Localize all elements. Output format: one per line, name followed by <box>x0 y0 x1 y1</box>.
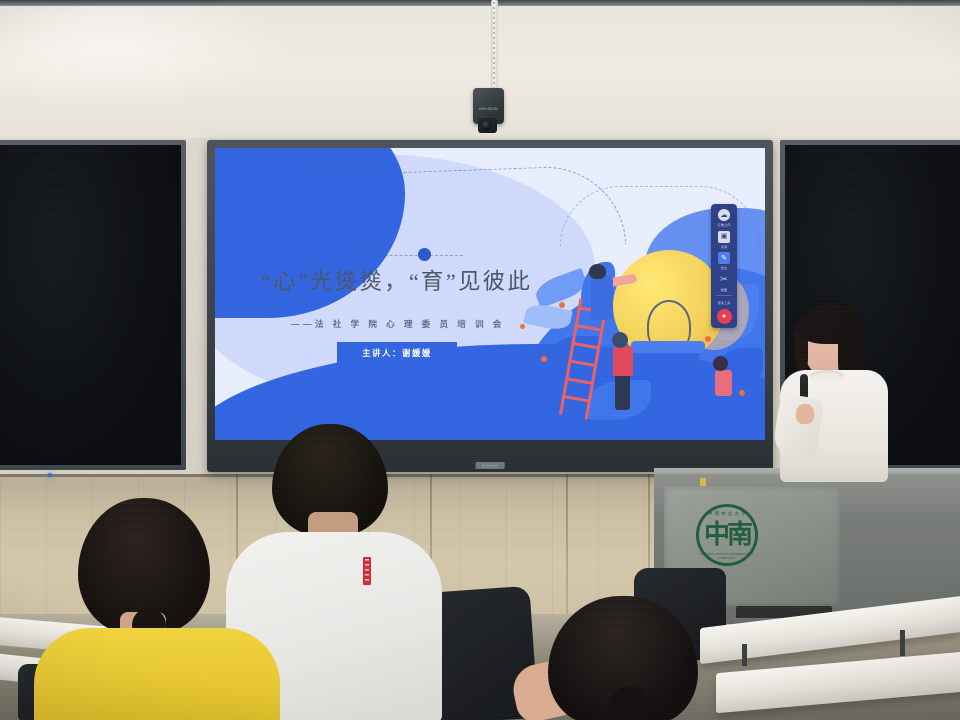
university-emblem: 中 南 林 业 大 学 中南 CENTRAL SOUTH UNIVERSITY … <box>696 504 758 566</box>
student-right-ponytail <box>610 686 650 720</box>
speaker-badge: 主讲人：谢媛媛 <box>337 342 457 364</box>
emblem-monogram: 中南 <box>704 522 750 548</box>
figure-head <box>612 332 628 348</box>
classroom-scene: HIKVISION <box>0 0 960 720</box>
toolbar-item-label: 资源 <box>721 244 727 249</box>
left-display[interactable] <box>0 140 186 470</box>
toolbar-item-annotate[interactable]: ✎ 批注 <box>718 252 730 270</box>
presenter-hand <box>796 404 814 424</box>
screen-brand-label: Seewo <box>476 462 505 469</box>
subtitle-accent-dot <box>520 324 525 329</box>
pen-icon: ✎ <box>718 252 730 264</box>
toolbar-item-more[interactable]: 更多工具 <box>718 300 731 305</box>
slide-title: “心”光熧熧，“育”见彼此 <box>261 264 661 296</box>
berry-dot <box>541 356 547 362</box>
camera-lens-icon <box>478 118 497 133</box>
toolbar-item-label: 批注 <box>721 265 727 270</box>
toolbar-item-resource[interactable]: ▣ 资源 <box>718 231 730 249</box>
toolbar-item-label: 截图 <box>721 287 727 292</box>
cloud-upload-icon: ☁ <box>718 209 730 221</box>
figure-body <box>613 346 633 376</box>
toolbar-item-cloud-upload[interactable]: ☁ 云端上传 <box>718 209 731 227</box>
figure-body <box>715 370 732 396</box>
screen-surface[interactable]: “心”光熧熧，“育”见彼此 ——法 社 学 院 心 理 委 员 培 训 会 主讲… <box>215 148 765 440</box>
emblem-name-en: CENTRAL SOUTH UNIVERSITY OF FORESTRY <box>699 552 755 560</box>
camera-brand-label: HIKVISION <box>477 107 500 112</box>
slide-subtitle: ——法 社 学 院 心 理 委 员 培 训 会 <box>291 318 505 330</box>
emblem-name-cn: 中 南 林 业 大 学 <box>699 511 755 517</box>
presenter-arm <box>772 393 824 461</box>
camera-mount-pole <box>491 0 498 96</box>
record-icon[interactable]: ● <box>717 309 732 324</box>
toolbar-divider <box>716 295 732 296</box>
wood-seam <box>566 474 568 624</box>
screen-edge-reflection <box>215 424 765 427</box>
presenter-collar <box>810 370 844 382</box>
path-endpoint-dot <box>418 248 431 261</box>
power-led-icon <box>48 473 52 477</box>
leaf-shape <box>523 301 573 332</box>
left-display-screen <box>0 145 181 465</box>
presenter <box>766 300 896 478</box>
interactive-smart-screen[interactable]: “心”光熧熧，“育”见彼此 ——法 社 学 院 心 理 委 员 培 训 会 主讲… <box>207 140 773 472</box>
folder-icon: ▣ <box>718 231 730 243</box>
student-yellow-top <box>34 628 280 720</box>
scissors-icon: ✂ <box>718 274 730 286</box>
toolbar-item-label: 更多工具 <box>718 300 731 305</box>
berry-dot <box>739 390 745 396</box>
toolbar-item-label: 云端上传 <box>718 222 731 227</box>
berry-dot <box>559 302 565 308</box>
figure-legs <box>615 374 630 410</box>
toolbar-item-screenshot[interactable]: ✂ 截图 <box>718 274 730 292</box>
desk-leg <box>742 644 747 666</box>
tshirt-logo <box>363 557 371 585</box>
desk-leg <box>900 630 905 656</box>
figure-head <box>713 356 728 371</box>
presentation-slide: “心”光熧熧，“育”见彼此 ——法 社 学 院 心 理 委 员 培 训 会 主讲… <box>215 148 765 440</box>
screen-floating-toolbar[interactable]: ☁ 云端上传 ▣ 资源 ✎ 批注 ✂ 截图 <box>711 204 737 328</box>
berry-dot <box>705 336 711 342</box>
